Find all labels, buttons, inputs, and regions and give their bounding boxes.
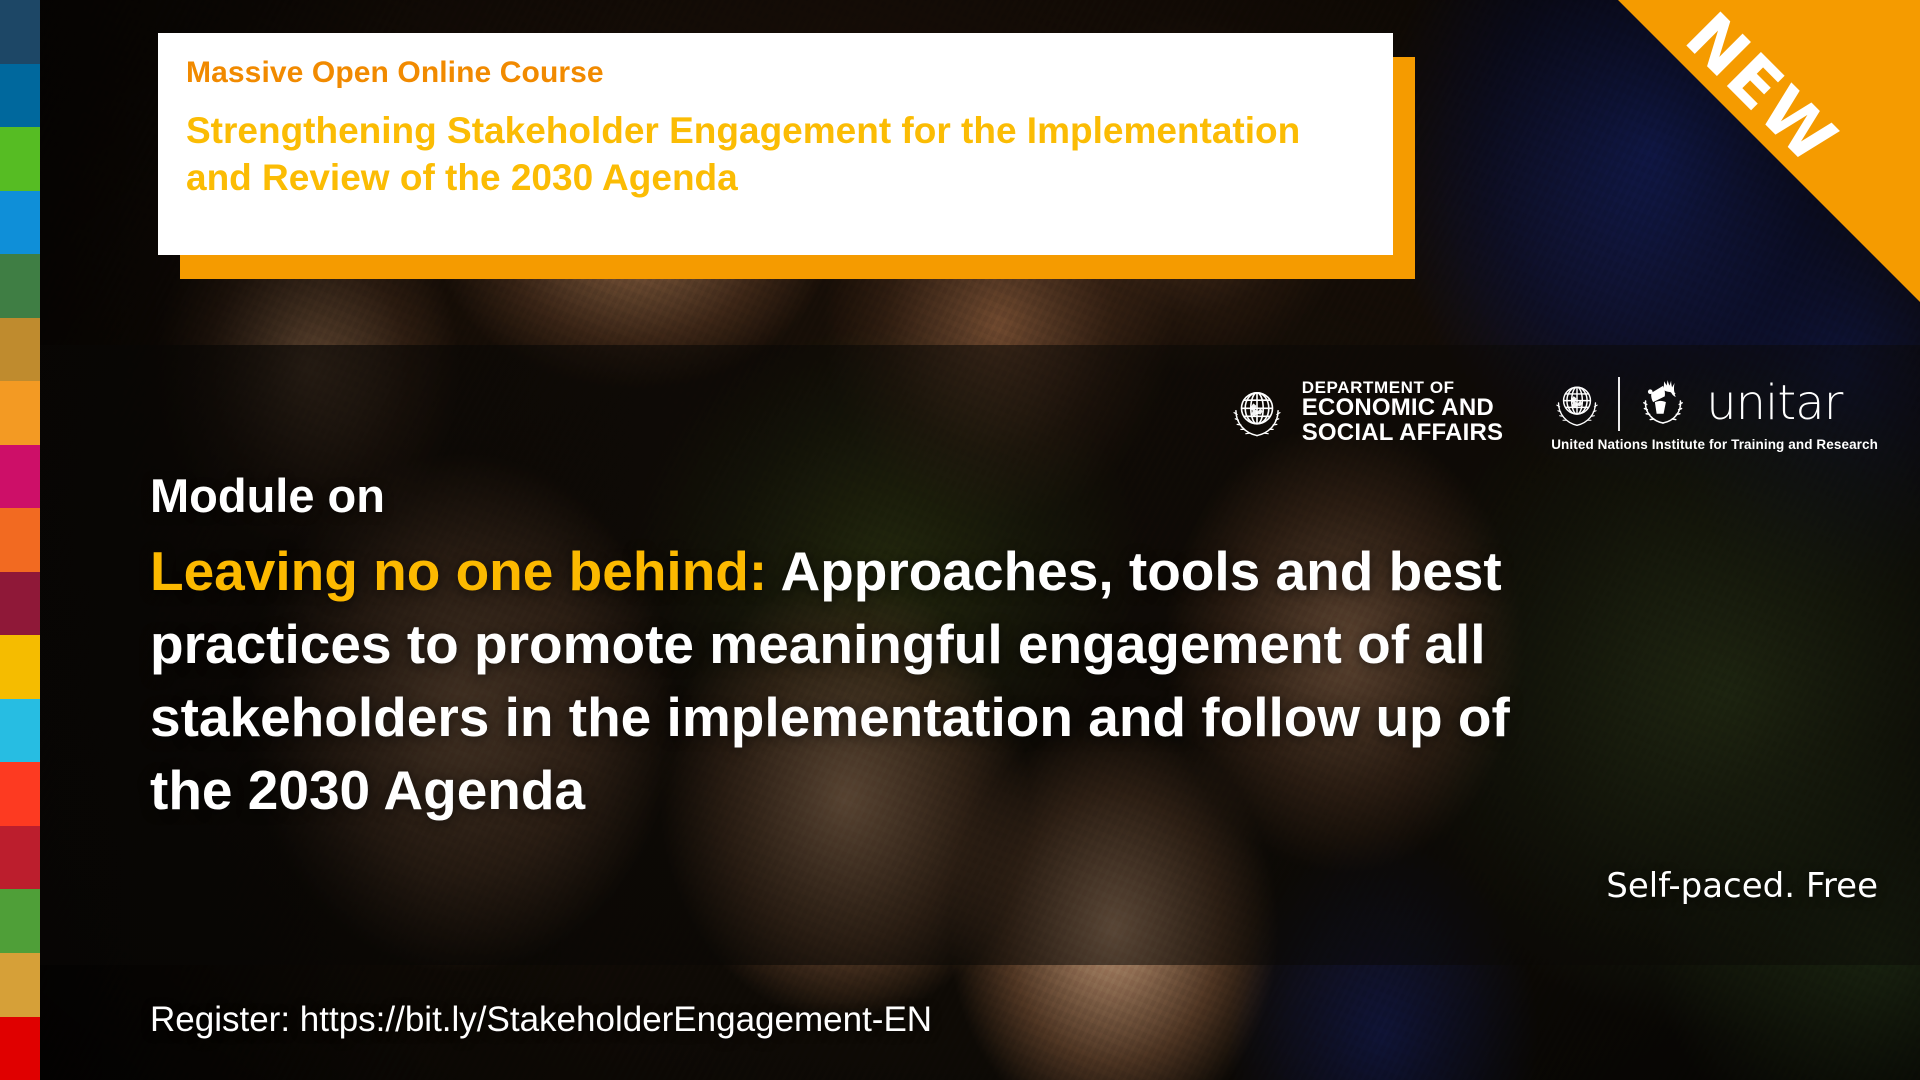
course-card: Massive Open Online Course Strengthening…: [158, 33, 1393, 255]
register-link[interactable]: Register: https://bit.ly/StakeholderEnga…: [150, 1000, 932, 1040]
sdg-color-block-6: [0, 318, 40, 382]
headline-highlight: Leaving no one behind:: [150, 540, 767, 602]
sdg-color-block-11: [0, 635, 40, 699]
module-label: Module on: [150, 470, 385, 522]
un-desa-line-2: ECONOMIC AND: [1302, 396, 1503, 420]
sdg-color-block-4: [0, 191, 40, 255]
un-desa-logo-text: DEPARTMENT OF ECONOMIC AND SOCIAL AFFAIR…: [1302, 379, 1503, 445]
unitar-wordmark: unitar: [1706, 382, 1842, 425]
unitar-logo: unitar United Nations Institute for Trai…: [1549, 372, 1878, 452]
sdg-color-block-14: [0, 826, 40, 890]
sdg-color-block-17: [0, 1017, 40, 1080]
un-emblem-icon: [1226, 381, 1288, 443]
sdg-color-block-8: [0, 445, 40, 509]
un-emblem-icon: [1549, 376, 1605, 432]
sdg-color-block-13: [0, 762, 40, 826]
sdg-color-block-2: [0, 64, 40, 128]
unitar-logo-divider: [1618, 377, 1620, 431]
sdg-color-block-3: [0, 127, 40, 191]
sdg-color-strip: [0, 0, 40, 1080]
sdg-color-block-9: [0, 508, 40, 572]
un-desa-logo: DEPARTMENT OF ECONOMIC AND SOCIAL AFFAIR…: [1226, 379, 1503, 445]
course-card-title: Strengthening Stakeholder Engagement for…: [186, 107, 1306, 202]
headline: Leaving no one behind: Approaches, tools…: [150, 535, 1570, 828]
sdg-color-block-10: [0, 572, 40, 636]
promotional-banner: Massive Open Online Course Strengthening…: [0, 0, 1920, 1080]
unitar-subtitle: United Nations Institute for Training an…: [1551, 437, 1878, 452]
sdg-color-block-16: [0, 953, 40, 1017]
self-paced-badge: Self-paced. Free: [1606, 866, 1878, 906]
unitar-bird-icon: [1633, 372, 1693, 435]
sdg-color-block-7: [0, 381, 40, 445]
sdg-color-block-12: [0, 699, 40, 763]
partner-logos: DEPARTMENT OF ECONOMIC AND SOCIAL AFFAIR…: [1226, 372, 1878, 452]
unitar-logo-row: unitar: [1549, 372, 1842, 435]
sdg-color-block-15: [0, 889, 40, 953]
new-ribbon: NEW: [1610, 0, 1920, 310]
sdg-color-block-5: [0, 254, 40, 318]
sdg-color-block-1: [0, 0, 40, 64]
course-card-kicker: Massive Open Online Course: [186, 55, 1393, 91]
un-desa-line-3: SOCIAL AFFAIRS: [1302, 421, 1503, 445]
